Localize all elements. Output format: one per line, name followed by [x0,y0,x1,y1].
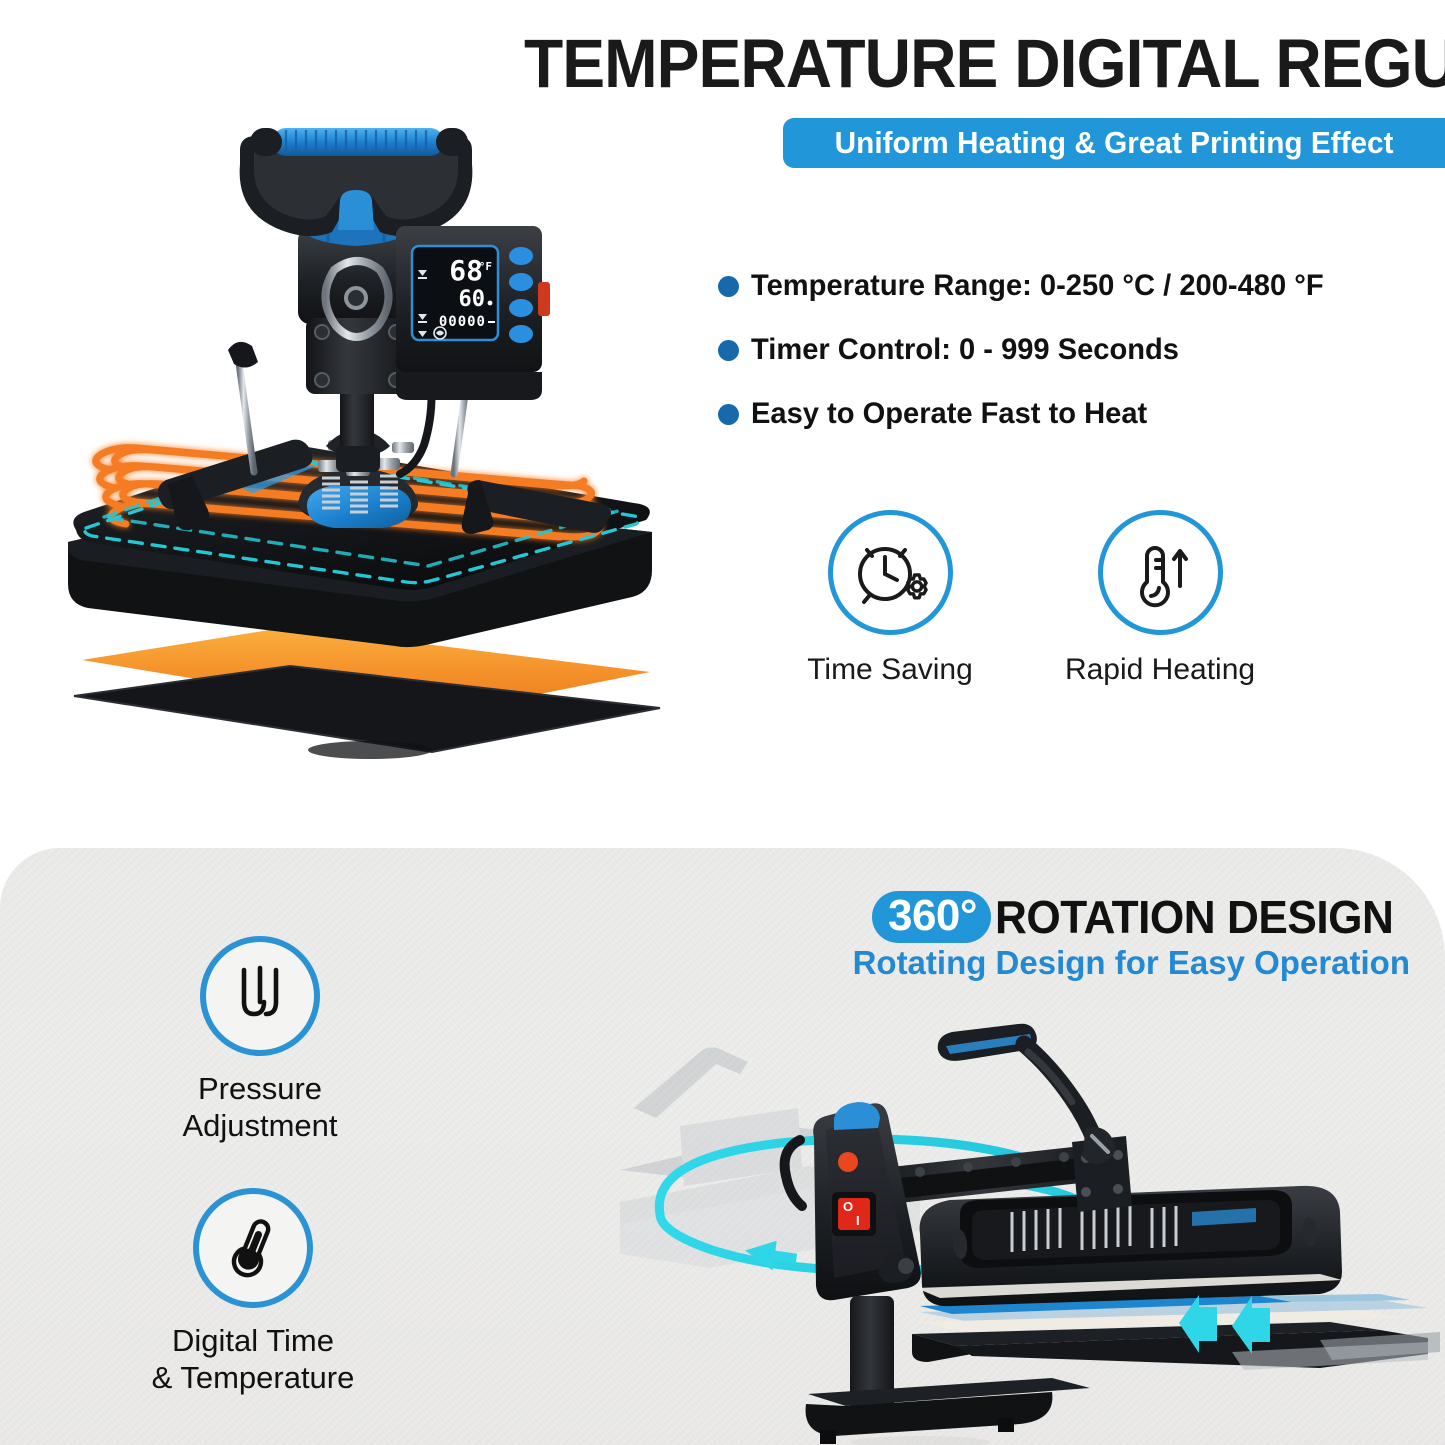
feature-bullet-list: Temperature Range: 0-250 °C / 200-480 °F… [718,268,1438,460]
feature-circle [1098,510,1223,635]
machine-base [74,627,660,759]
pressure-adjust-icon [222,958,298,1034]
rotation-subtitle: Rotating Design for Easy Operation [760,944,1410,982]
subtitle-banner: Uniform Heating & Great Printing Effect [783,118,1445,168]
feature-label-line2: Adjustment [182,1108,337,1143]
thermometer-up-arrow-icon [1117,530,1203,616]
controller-button-4 [509,325,533,343]
handle-grip [272,128,444,156]
feature-circle [828,510,953,635]
controller-button-3 [509,299,533,317]
rotation-title: 360° ROTATION DESIGN [850,888,1410,946]
bullet-dot-icon [718,276,739,297]
rotation-base [806,1378,1090,1445]
feature-label: Time Saving [807,653,973,687]
rotation-title-text: ROTATION DESIGN [995,890,1393,944]
svg-text:I: I [856,1213,860,1228]
feature-label-line1: Pressure [198,1071,322,1106]
power-switch [538,282,550,316]
feature-digital-time-temperature: Digital Time & Temperature [118,1188,388,1396]
icon-feature-group: Time Saving Rapid Hea [800,510,1250,687]
lcd-counter-value: 00000 [439,314,486,330]
product-infographic: TEMPERATURE DIGITAL REGULATOR Uniform He… [0,0,1445,1445]
bullet-label: Timer Control: 0 - 999 Seconds [751,332,1179,368]
heat-press-machine-illustration: 68 °F 60 00000 [40,100,680,790]
top-section: TEMPERATURE DIGITAL REGULATOR Uniform He… [0,0,1445,850]
controller-button-1 [509,247,533,265]
lcd-temperature-unit: °F [479,260,492,273]
rotation-machine-illustration: OI [620,1000,1445,1445]
page-title: TEMPERATURE DIGITAL REGULATOR [524,22,1440,106]
feature-time-saving: Time Saving [800,510,980,687]
feature-label: Pressure Adjustment [182,1070,337,1144]
platen-springs [1012,1206,1176,1252]
subtitle-banner-label: Uniform Heating & Great Printing Effect [835,125,1394,161]
feature-circle [200,936,320,1056]
feature-label-line1: Digital Time [172,1323,334,1358]
badge-360: 360° [872,891,991,943]
controller-button-2 [509,273,533,291]
feature-rapid-heating: Rapid Heating [1070,510,1250,687]
thermometer-icon [215,1210,291,1286]
svg-text:O: O [843,1199,853,1214]
platen-stack [912,1294,1440,1370]
clock-gear-icon [847,530,933,616]
feature-label: Rapid Heating [1065,653,1255,687]
controller-box: 68 °F 60 00000 [396,226,550,400]
bullet-dot-icon [718,340,739,361]
machine-handle [240,128,473,236]
bullet-label: Temperature Range: 0-250 °C / 200-480 °F [751,268,1324,304]
lcd-timer-value: 60 [459,287,486,312]
feature-label-line2: & Temperature [152,1360,355,1395]
list-item: Easy to Operate Fast to Heat [718,396,1438,432]
feature-circle [193,1188,313,1308]
bullet-dot-icon [718,404,739,425]
feature-label: Digital Time & Temperature [152,1322,355,1396]
bullet-label: Easy to Operate Fast to Heat [751,396,1147,432]
indicator-light [838,1152,858,1172]
list-item: Temperature Range: 0-250 °C / 200-480 °F [718,268,1438,304]
rotation-design-section: 360° ROTATION DESIGN Rotating Design for… [0,848,1445,1445]
feature-pressure-adjustment: Pressure Adjustment [125,936,395,1144]
list-item: Timer Control: 0 - 999 Seconds [718,332,1438,368]
